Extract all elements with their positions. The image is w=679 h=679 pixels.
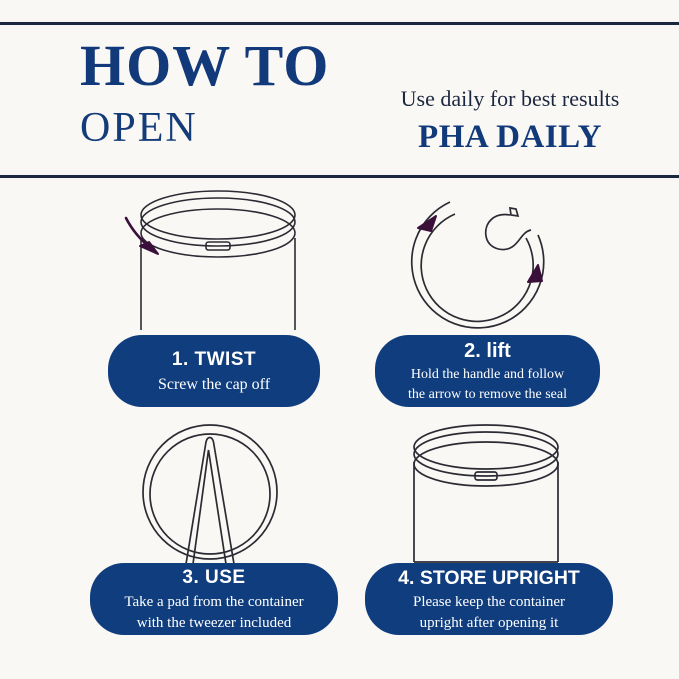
header-divider-bottom [0, 175, 679, 178]
step-1-label-card[interactable]: 1. TWIST Screw the cap off [108, 335, 320, 407]
how-to-open-infographic: HOW TO OPEN Use daily for best results P… [0, 0, 679, 679]
step-4-body-line1: Please keep the container [413, 594, 565, 610]
open-container-with-tweezer-illustration [130, 420, 300, 570]
closed-container-upright-illustration [396, 420, 576, 570]
page-title-line2: OPEN [80, 104, 380, 152]
step-2-title: 2. lift [464, 340, 511, 362]
page-title-line1: HOW TO [80, 36, 380, 96]
step-2-body-line1: Hold the handle and follow [411, 367, 564, 382]
step-2-body-line2: the arrow to remove the seal [408, 387, 567, 402]
header-divider-top [0, 22, 679, 25]
header-left-block: HOW TO OPEN [80, 36, 380, 152]
step-2-label-card[interactable]: 2. lift Hold the handle and follow the a… [375, 335, 600, 407]
step-1-title: 1. TWIST [172, 349, 256, 371]
step-4-body-line2: upright after opening it [420, 615, 559, 631]
step-3-body-line2: with the tweezer included [137, 615, 292, 631]
step-3-body-line1: Take a pad from the container [124, 594, 303, 610]
step-4-label-card[interactable]: 4. STORE UPRIGHT Please keep the contain… [365, 563, 613, 635]
header-right-block: Use daily for best results PHA DAILY [380, 86, 640, 156]
brand-name: PHA DAILY [380, 118, 640, 156]
tagline-text: Use daily for best results [380, 86, 640, 112]
container-with-lid-twist-arrow-illustration [118, 190, 318, 340]
step-3-title: 3. USE [182, 567, 245, 589]
seal-with-pull-tab-rotation-arrows-illustration [398, 190, 573, 340]
step-4-title: 4. STORE UPRIGHT [398, 567, 580, 589]
step-1-body-line1: Screw the cap off [158, 376, 270, 393]
step-3-label-card[interactable]: 3. USE Take a pad from the container wit… [90, 563, 338, 635]
